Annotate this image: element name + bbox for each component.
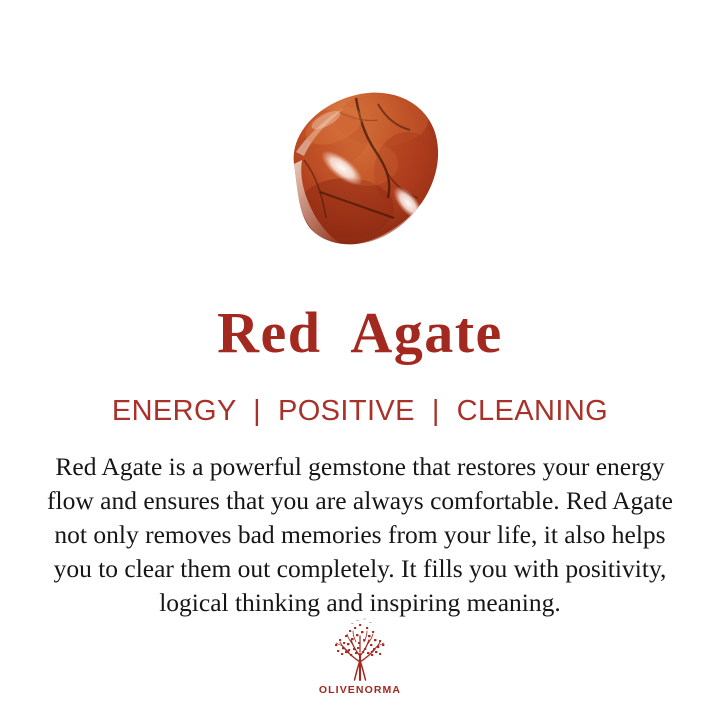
- tree-icon: [323, 618, 397, 682]
- product-info-card: Red Agate ENERGY | POSITIVE | CLEANING R…: [0, 0, 720, 720]
- description-text: Red Agate is a powerful gemstone that re…: [18, 450, 702, 620]
- description-line: Red Agate is a powerful gemstone that re…: [18, 450, 702, 484]
- page-title: Red Agate: [0, 302, 720, 364]
- description-line: flow and ensures that you are always com…: [18, 484, 702, 518]
- description-line: not only removes bad memories from your …: [18, 518, 702, 552]
- description-line: you to clear them out completely. It fil…: [18, 552, 702, 586]
- red-agate-stone-illustration: [260, 68, 460, 268]
- keyword-list: ENERGY | POSITIVE | CLEANING: [0, 394, 720, 428]
- gemstone-image: [0, 62, 720, 274]
- description-line: logical thinking and inspiring meaning.: [18, 586, 702, 620]
- brand-logo: OLIVENORMA: [0, 618, 720, 696]
- stone-body: [286, 88, 442, 248]
- brand-wordmark: OLIVENORMA: [319, 684, 401, 696]
